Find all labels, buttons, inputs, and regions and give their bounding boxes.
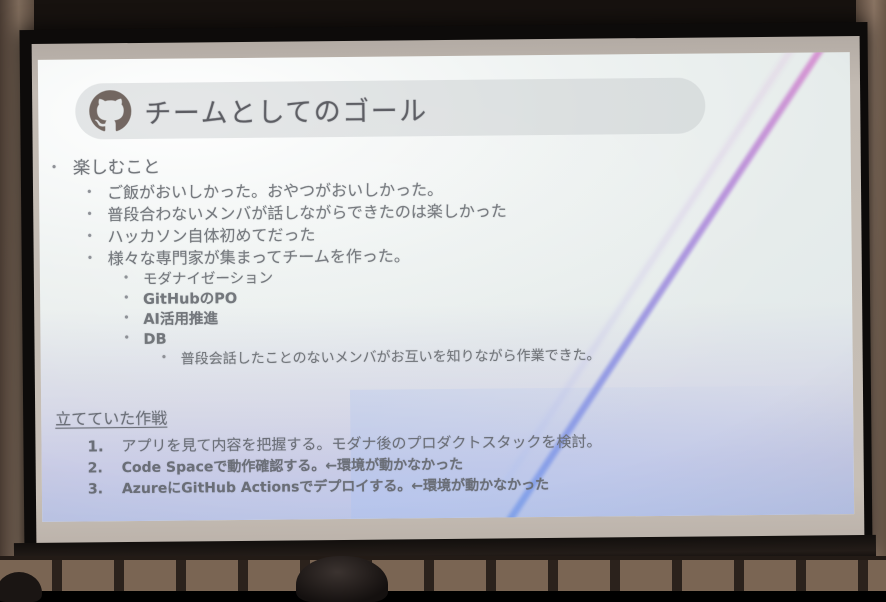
bullet-marker-icon: • bbox=[123, 270, 143, 285]
bullet-marker-icon: • bbox=[123, 331, 143, 346]
bullet-marker-icon: • bbox=[87, 252, 108, 267]
plan-section: 立てていた作戦 1. アプリを見て内容を把握する。モダナ後のプロダクトスタックを… bbox=[41, 398, 854, 500]
audience-head-silhouette bbox=[296, 556, 388, 602]
slide-title-pill: チームとしてのゴール bbox=[75, 78, 706, 140]
plan-item-number: 1. bbox=[87, 435, 121, 458]
wood-panel-wall bbox=[0, 560, 886, 591]
github-octocat-logo bbox=[89, 90, 131, 132]
bullet-marker-icon: • bbox=[161, 351, 181, 366]
bullet-marker-icon: • bbox=[86, 185, 107, 200]
plan-item-number: 2. bbox=[88, 458, 122, 479]
bullet-marker-icon: • bbox=[51, 161, 73, 176]
conference-room-background: チームとしてのゴール • 楽しむこと • ご飯がおいしかった。おやつがおいしかっ… bbox=[0, 0, 886, 591]
bullet-marker-icon: • bbox=[123, 311, 143, 326]
slide-bullet-list: • 楽しむこと • ご飯がおいしかった。おやつがおいしかった。 • 普段合わない… bbox=[39, 150, 853, 371]
bullet-marker-icon: • bbox=[86, 230, 107, 245]
plan-heading: 立てていた作戦 bbox=[55, 398, 853, 430]
presentation-slide: チームとしてのゴール • 楽しむこと • ご飯がおいしかった。おやつがおいしかっ… bbox=[38, 52, 854, 522]
bullet-marker-icon: • bbox=[86, 207, 107, 222]
slide-title: チームとしてのゴール bbox=[144, 89, 428, 131]
plan-item-number: 3. bbox=[88, 479, 122, 500]
bullet-marker-icon: • bbox=[123, 291, 143, 306]
